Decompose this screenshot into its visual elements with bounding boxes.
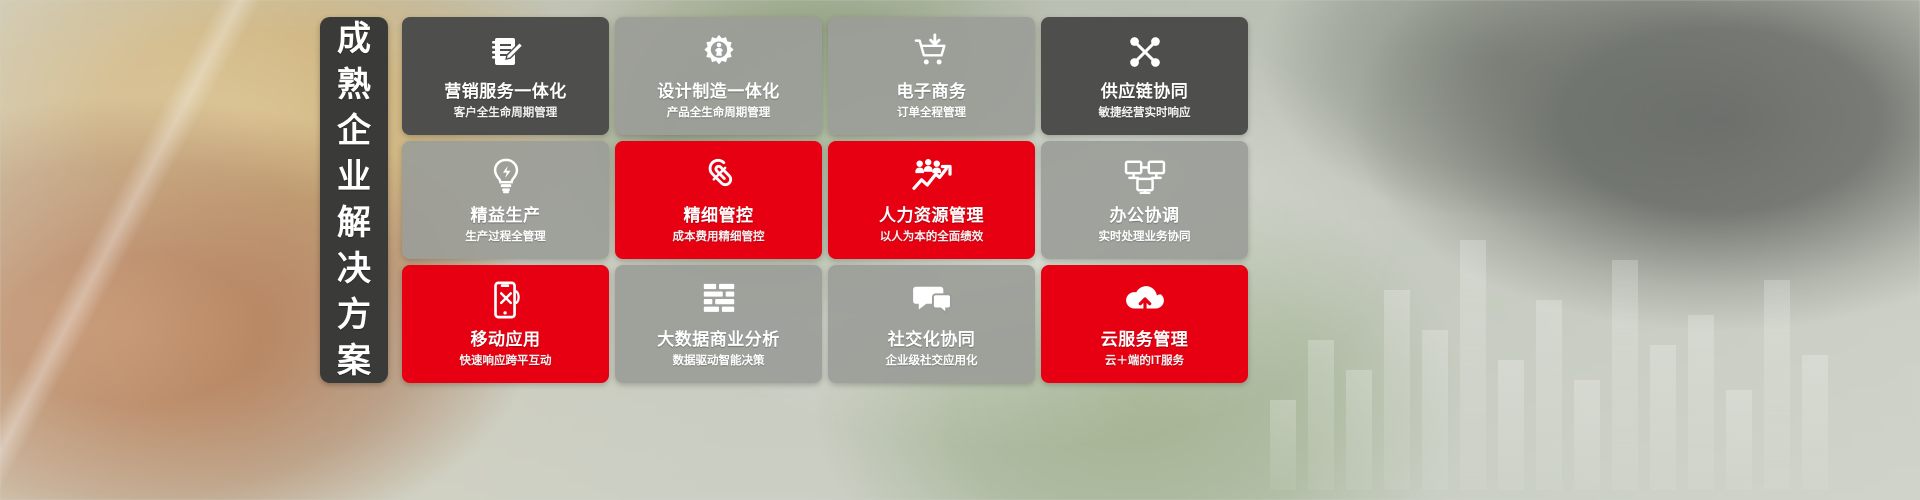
card-subtitle: 敏捷经营实时响应 (1099, 105, 1191, 122)
notebook-pencil-icon (486, 29, 526, 75)
card-title: 移动应用 (471, 329, 541, 351)
vertical-title-char: 成 (337, 17, 371, 62)
vertical-title-char: 熟 (337, 63, 371, 108)
data-bars-icon (701, 277, 737, 323)
chat-bubbles-icon (911, 277, 953, 323)
solution-card-lean-production[interactable]: 精益生产 生产过程全管理 (402, 141, 609, 259)
card-subtitle: 快速响应跨平互动 (460, 353, 552, 370)
card-subtitle: 数据驱动智能决策 (673, 353, 765, 370)
card-title: 办公协调 (1110, 205, 1180, 227)
card-title: 大数据商业分析 (657, 329, 780, 351)
card-title: 营销服务一体化 (444, 81, 567, 103)
paperclip-link-icon (701, 153, 737, 199)
card-title: 精细管控 (684, 205, 754, 227)
solution-card-supply-chain[interactable]: 供应链协同 敏捷经营实时响应 (1041, 17, 1248, 135)
vertical-title-char: 方 (337, 293, 371, 338)
vertical-title-char: 解 (337, 201, 371, 246)
card-subtitle: 企业级社交应用化 (886, 353, 978, 370)
banner-stage: 成 熟 企 业 解 决 方 案 营 (0, 0, 1920, 500)
mobile-phone-icon (489, 277, 523, 323)
solution-card-fine-control[interactable]: 精细管控 成本费用精细管控 (615, 141, 822, 259)
people-growth-arrow-icon (911, 153, 953, 199)
gear-person-icon (700, 29, 738, 75)
card-subtitle: 客户全生命周期管理 (454, 105, 558, 122)
solution-card-mobile-app[interactable]: 移动应用 快速响应跨平互动 (402, 265, 609, 383)
vertical-title-char: 业 (337, 155, 371, 200)
solution-card-social-collaboration[interactable]: 社交化协同 企业级社交应用化 (828, 265, 1035, 383)
solution-card-grid: 营销服务一体化 客户全生命周期管理 设计制造一体化 产品全生命周期管理 (402, 17, 1248, 383)
card-subtitle: 生产过程全管理 (465, 229, 546, 246)
solution-card-human-resources[interactable]: 人力资源管理 以人为本的全面绩效 (828, 141, 1035, 259)
vertical-title-char: 决 (337, 247, 371, 292)
solution-card-ecommerce[interactable]: 电子商务 订单全程管理 (828, 17, 1035, 135)
solution-card-office-coordination[interactable]: 办公协调 实时处理业务协同 (1041, 141, 1248, 259)
vertical-title-char: 案 (337, 339, 371, 384)
card-subtitle: 实时处理业务协同 (1099, 229, 1191, 246)
solution-card-marketing-service[interactable]: 营销服务一体化 客户全生命周期管理 (402, 17, 609, 135)
card-title: 云服务管理 (1101, 329, 1189, 351)
solution-card-design-manufacture[interactable]: 设计制造一体化 产品全生命周期管理 (615, 17, 822, 135)
card-title: 社交化协同 (888, 329, 976, 351)
card-subtitle: 成本费用精细管控 (673, 229, 765, 246)
card-title: 精益生产 (471, 205, 541, 227)
card-title: 供应链协同 (1101, 81, 1189, 103)
card-title: 设计制造一体化 (657, 81, 780, 103)
card-title: 电子商务 (897, 81, 967, 103)
vertical-title-char: 企 (337, 109, 371, 154)
card-subtitle: 云＋端的IT服务 (1105, 353, 1184, 370)
lightbulb-bolt-icon (489, 153, 523, 199)
solution-card-cloud-service[interactable]: 云服务管理 云＋端的IT服务 (1041, 265, 1248, 383)
card-subtitle: 产品全生命周期管理 (667, 105, 771, 122)
network-nodes-icon (1126, 29, 1164, 75)
card-title: 人力资源管理 (879, 205, 984, 227)
shopping-cart-download-icon (912, 29, 952, 75)
vertical-title-panel: 成 熟 企 业 解 决 方 案 (320, 17, 388, 383)
screens-sync-icon (1124, 153, 1166, 199)
card-subtitle: 以人为本的全面绩效 (880, 229, 984, 246)
solution-card-big-data-analysis[interactable]: 大数据商业分析 数据驱动智能决策 (615, 265, 822, 383)
card-subtitle: 订单全程管理 (897, 105, 966, 122)
cloud-upload-icon (1124, 277, 1166, 323)
